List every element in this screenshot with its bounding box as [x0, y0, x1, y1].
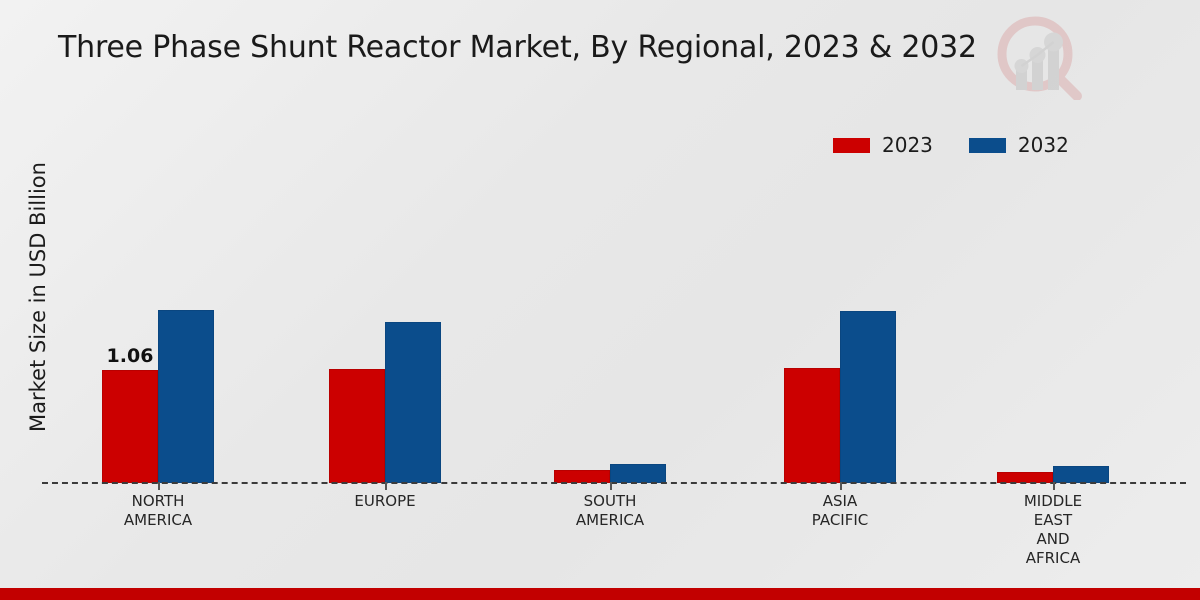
category-label-line: AND	[953, 530, 1153, 549]
x-axis-category-label: ASIAPACIFIC	[740, 492, 940, 530]
x-axis-baseline	[42, 482, 1186, 484]
bar-group	[783, 160, 897, 483]
category-label-line: SOUTH	[510, 492, 710, 511]
category-label-line: ASIA	[740, 492, 940, 511]
bar-group	[328, 160, 442, 483]
bar-2023[interactable]: 1.06	[102, 370, 158, 483]
x-axis-category-label: NORTHAMERICA	[58, 492, 258, 530]
bar-2032[interactable]	[1053, 466, 1109, 483]
bar-2023[interactable]	[784, 368, 840, 483]
category-label-line: NORTH	[58, 492, 258, 511]
x-axis-tick	[385, 482, 387, 490]
bar-value-label: 1.06	[107, 345, 154, 367]
bar-2032[interactable]	[610, 464, 666, 483]
category-label-line: AFRICA	[953, 549, 1153, 568]
legend-label-2032: 2032	[1018, 133, 1069, 157]
bar-group	[553, 160, 667, 483]
chart-legend: 2023 2032	[833, 133, 1069, 157]
bar-2032[interactable]	[840, 311, 896, 483]
bar-2032[interactable]	[385, 322, 441, 483]
category-label-line: MIDDLE	[953, 492, 1153, 511]
footer-accent-bar	[0, 588, 1200, 600]
x-axis-category-label: SOUTHAMERICA	[510, 492, 710, 530]
x-axis-tick	[610, 482, 612, 490]
legend-swatch-2032	[969, 138, 1006, 153]
x-axis-tick	[158, 482, 160, 490]
x-axis-tick	[1053, 482, 1055, 490]
bar-2023[interactable]	[329, 369, 385, 483]
category-label-line: EAST	[953, 511, 1153, 530]
category-label-line: PACIFIC	[740, 511, 940, 530]
bar-group	[996, 160, 1110, 483]
legend-label-2023: 2023	[882, 133, 933, 157]
category-label-line: EUROPE	[285, 492, 485, 511]
bar-2032[interactable]	[158, 310, 214, 483]
x-axis-category-label: MIDDLEEASTANDAFRICA	[953, 492, 1153, 568]
legend-item-2023[interactable]: 2023	[833, 133, 933, 157]
chart-container: Three Phase Shunt Reactor Market, By Reg…	[0, 0, 1200, 600]
legend-item-2032[interactable]: 2032	[969, 133, 1069, 157]
x-axis-tick	[840, 482, 842, 490]
market-research-logo-watermark	[985, 12, 1095, 100]
plot-area: 1.06	[42, 160, 1186, 483]
category-label-line: AMERICA	[58, 511, 258, 530]
bar-group: 1.06	[101, 160, 215, 483]
legend-swatch-2023	[833, 138, 870, 153]
chart-title: Three Phase Shunt Reactor Market, By Reg…	[58, 30, 977, 65]
x-axis-category-label: EUROPE	[285, 492, 485, 511]
category-label-line: AMERICA	[510, 511, 710, 530]
